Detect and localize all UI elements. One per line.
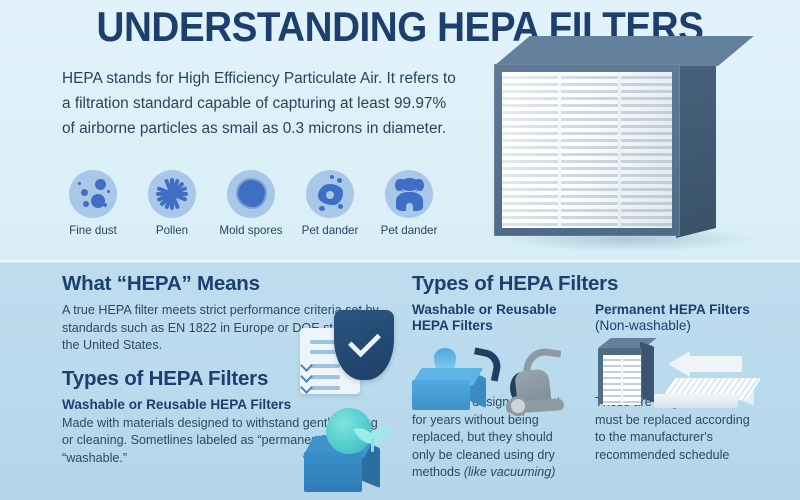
leaf-icon [326, 408, 372, 454]
hepa-filter-3d-illustration [478, 58, 778, 258]
pollen-icon [148, 170, 196, 218]
particle-list: Fine dust Pollen Mold spores Pet dander [58, 170, 453, 237]
wash-basin-icon [412, 380, 470, 410]
leaf-bin-icon [302, 408, 398, 494]
pet-dander-icon [306, 170, 354, 218]
shield-check-icon [300, 310, 396, 396]
particle-item-pollen: Pollen [137, 170, 207, 237]
particle-label: Fine dust [58, 224, 128, 237]
pet-silhouette-icon [385, 170, 433, 218]
particle-label: Pet dander [374, 224, 444, 237]
particle-item-pet-dander-2: Pet dander [374, 170, 444, 237]
filter-box-icon [598, 348, 642, 404]
filter-top-face [494, 36, 754, 66]
particle-item-pet-dander: Pet dander [295, 170, 365, 237]
left-heading: What “HEPA” Means [62, 272, 392, 296]
check-icon [348, 324, 381, 357]
particle-label: Pet dander [295, 224, 365, 237]
washable-title-text: Washable or Reusable HEPA Filters [412, 302, 557, 333]
filter-pleated-media [502, 72, 672, 228]
particle-item-mold-spores: Mold spores [216, 170, 286, 237]
replacement-panel-icon [654, 394, 738, 408]
washable-filter-icons [412, 348, 587, 414]
right-heading: Types of HEPA Filters [412, 272, 762, 296]
permanent-filter-icons [596, 344, 791, 416]
particle-label: Mold spores [216, 224, 286, 237]
arrow-left-icon [668, 351, 690, 377]
filter-side-face [676, 52, 716, 238]
permanent-title: Permanent HEPA Filters (Non-washable) [595, 302, 762, 334]
band-divider [0, 260, 800, 263]
permanent-title-light: (Non-washable) [595, 318, 691, 333]
shield-icon [334, 310, 394, 380]
filter-front-frame [494, 64, 680, 236]
infographic-poster: UNDERSTANDING HEPA FILTERS HEPA stands f… [0, 0, 800, 500]
intro-paragraph: HEPA stands for High Efficiency Particul… [62, 66, 462, 141]
particle-item-fine-dust: Fine dust [58, 170, 128, 237]
mold-spores-icon [227, 170, 275, 218]
permanent-title-text: Permanent HEPA Filters [595, 302, 750, 317]
particle-label: Pollen [137, 224, 207, 237]
washable-title: Washable or Reusable HEPA Filters [412, 302, 579, 334]
washable-body-italic: (like vacuuming) [464, 465, 556, 479]
fine-dust-icon [69, 170, 117, 218]
